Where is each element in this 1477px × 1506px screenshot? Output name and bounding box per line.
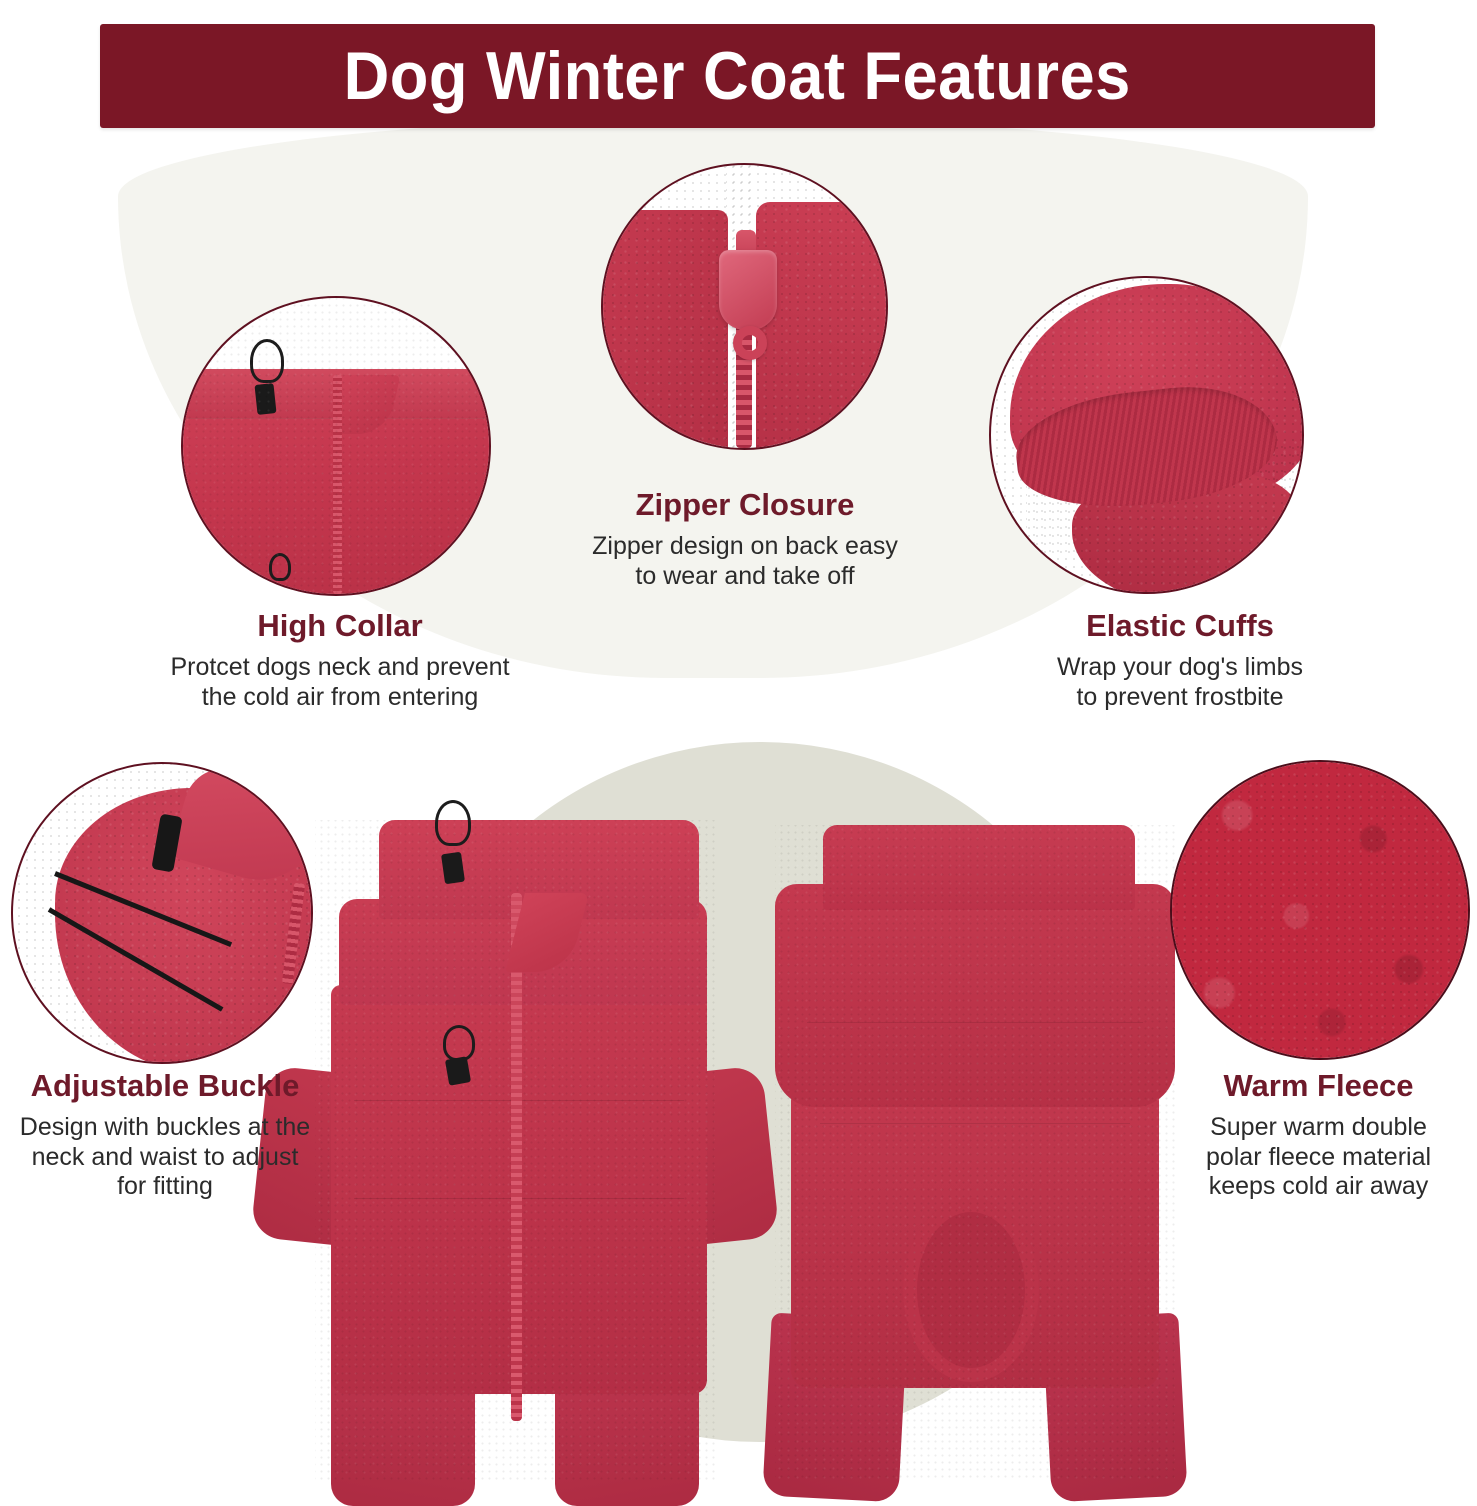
caption-adjustable-buckle: Adjustable Buckle Design with buckles at… — [0, 1068, 330, 1202]
high-collar-line-1: Protcet dogs neck and prevent — [125, 653, 555, 683]
zipper-closure-image — [601, 163, 888, 450]
adjustable-buckle-line-2: neck and waist to adjust — [0, 1143, 330, 1173]
zipper-left-panel — [601, 210, 728, 450]
front-waist-drawcord-icon — [443, 1025, 475, 1061]
fleece-texture — [1172, 762, 1468, 1058]
elastic-cuffs-line-2: to prevent frostbite — [960, 683, 1400, 713]
elastic-cuffs-line-1: Wrap your dog's limbs — [960, 653, 1400, 683]
zipper-slider-icon — [719, 250, 777, 330]
warm-fleece-line-1: Super warm double — [1160, 1113, 1477, 1143]
back-waistband — [823, 825, 1135, 910]
adjustable-buckle-title: Adjustable Buckle — [0, 1068, 330, 1104]
back-upper-body — [775, 884, 1175, 1107]
zipper-right-panel — [756, 202, 888, 450]
front-neck-drawcord-icon — [435, 800, 471, 846]
adjustable-buckle-line-1: Design with buckles at the — [0, 1113, 330, 1143]
warm-fleece-line-2: polar fleece material — [1160, 1143, 1477, 1173]
front-waist-cordlock-icon — [445, 1056, 471, 1085]
adjustable-buckle-line-3: for fitting — [0, 1172, 330, 1202]
zipper-closure-line-2: to wear and take off — [530, 562, 960, 592]
caption-high-collar: High Collar Protcet dogs neck and preven… — [125, 608, 555, 712]
drawcord-loop-lower-icon — [269, 553, 291, 581]
adjustable-buckle-image — [11, 762, 313, 1064]
caption-warm-fleece: Warm Fleece Super warm double polar flee… — [1160, 1068, 1477, 1202]
product-front-view — [315, 820, 715, 1480]
front-neck-cordlock-icon — [441, 852, 465, 884]
warm-fleece-line-3: keeps cold air away — [1160, 1172, 1477, 1202]
caption-elastic-cuffs: Elastic Cuffs Wrap your dog's limbs to p… — [960, 608, 1400, 712]
warm-fleece-title: Warm Fleece — [1160, 1068, 1477, 1104]
drawcord-loop-icon — [250, 339, 284, 383]
collar-zipper — [333, 375, 342, 594]
warm-fleece-image — [1170, 760, 1470, 1060]
caption-zipper-closure: Zipper Closure Zipper design on back eas… — [530, 487, 960, 591]
high-collar-line-2: the cold air from entering — [125, 683, 555, 713]
zipper-closure-title: Zipper Closure — [530, 487, 960, 523]
title-banner: Dog Winter Coat Features — [100, 24, 1375, 128]
page-title: Dog Winter Coat Features — [344, 37, 1131, 115]
elastic-cuffs-image — [989, 276, 1304, 594]
high-collar-title: High Collar — [125, 608, 555, 644]
elastic-cuffs-title: Elastic Cuffs — [960, 608, 1400, 644]
product-back-view — [775, 825, 1175, 1480]
high-collar-image — [181, 296, 491, 596]
back-potty-opening — [903, 1198, 1039, 1381]
cord-lock-icon — [255, 383, 277, 415]
zipper-closure-line-1: Zipper design on back easy — [530, 532, 960, 562]
